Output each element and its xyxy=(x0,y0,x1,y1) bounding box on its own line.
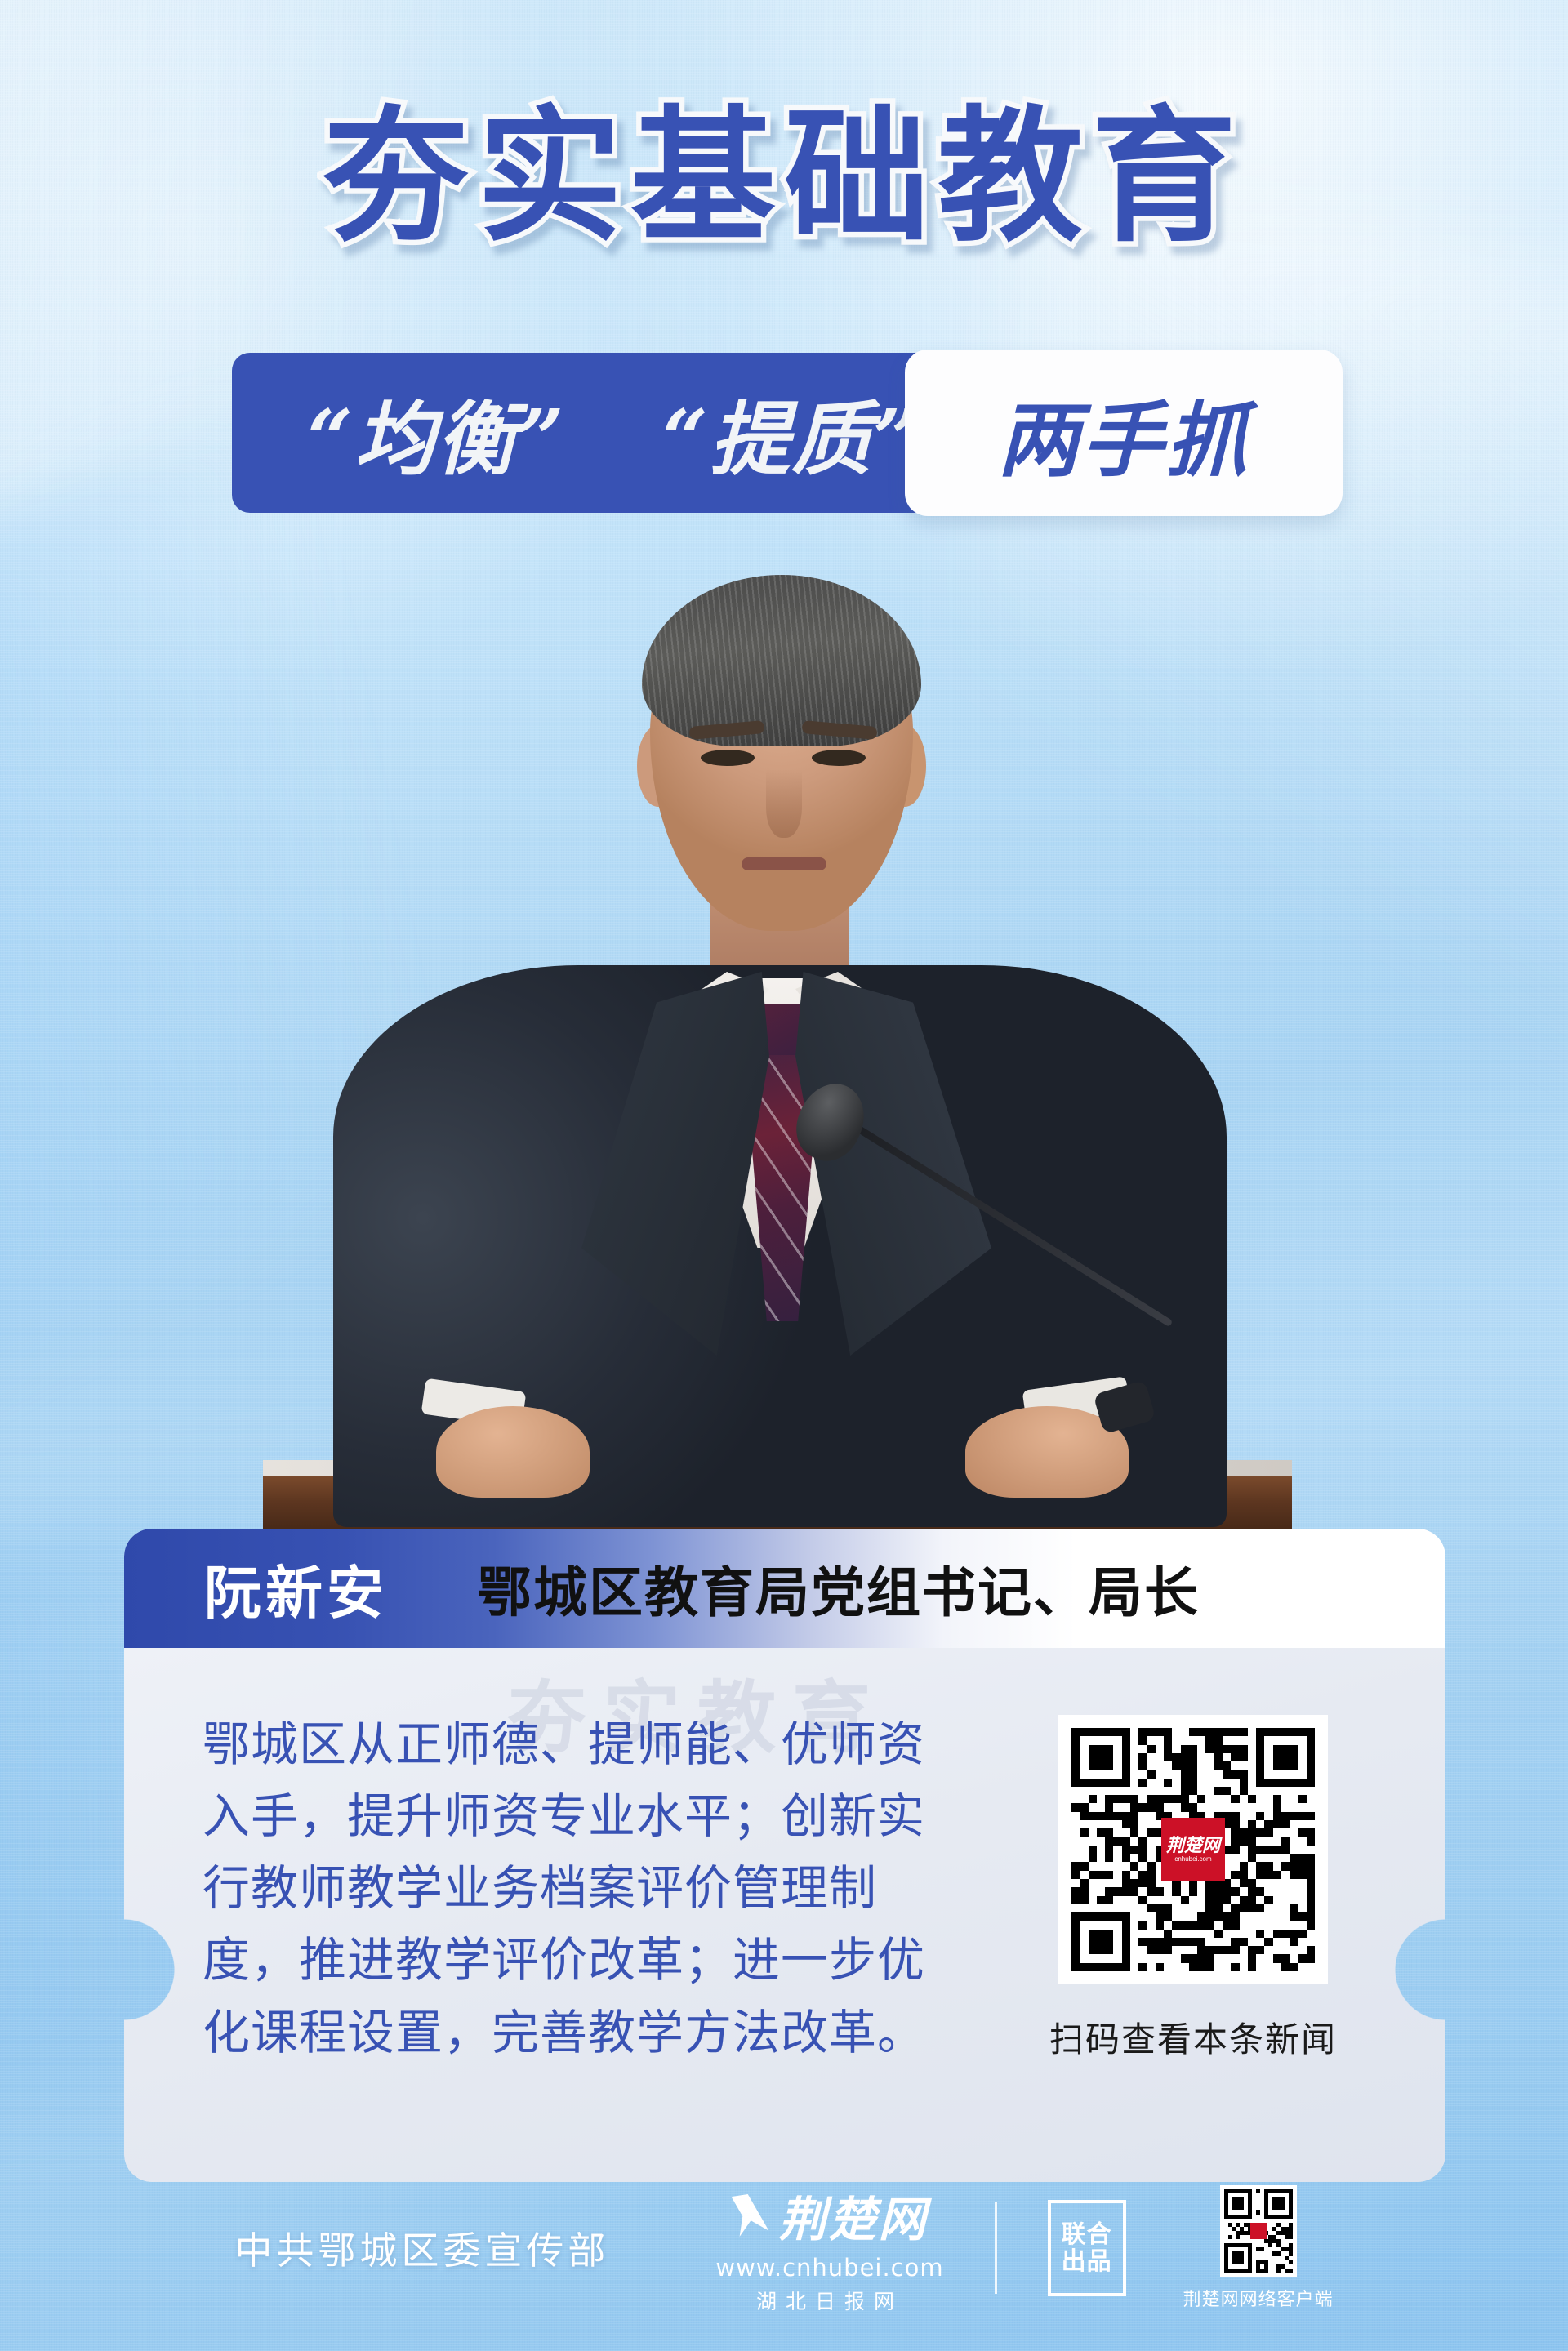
footer-app-block: 荆楚网网络客户端 xyxy=(1183,2185,1334,2311)
speaker-photo xyxy=(312,563,1243,1527)
poster-footer: 中共鄂城区委宣传部 荆楚网 www.cnhubei.com 湖北日报网 联合 出… xyxy=(0,2181,1568,2315)
card-surface: 阮新安 鄂城区教育局党组书记、局长 夯实教育 鄂城区从正师德、提师能、优师资入手… xyxy=(124,1529,1445,2182)
footer-department: 中共鄂城区委宣传部 xyxy=(234,2221,609,2275)
cnhubei-logo-icon: 荆楚网 cnhubei.com xyxy=(1161,1818,1225,1881)
speaker-name: 阮新安 xyxy=(204,1547,388,1630)
nose xyxy=(766,769,802,838)
qr-block: 荆楚网 cnhubei.com 扫码查看本条新闻 xyxy=(941,1648,1445,2182)
footer-brand-url: www.cnhubei.com xyxy=(715,2254,943,2282)
poster-headline: 夯实基础教育 xyxy=(0,105,1568,250)
cnhubei-swoosh-icon xyxy=(731,2194,768,2237)
poster-root: 夯实基础教育 “均衡” “提质” 两手抓 xyxy=(0,0,1568,2351)
hair xyxy=(642,575,921,746)
mouth xyxy=(742,857,826,870)
footer-brand-row: 荆楚网 xyxy=(731,2181,928,2250)
speaker-quote: 鄂城区从正师德、提师能、优师资入手，提升师资专业水平；创新实行教师教学业务档案评… xyxy=(124,1648,941,2182)
app-qr-logo-icon xyxy=(1250,2223,1267,2239)
news-qr-code[interactable]: 荆楚网 cnhubei.com xyxy=(1058,1715,1328,1984)
card-body: 夯实教育 鄂城区从正师德、提师能、优师资入手，提升师资专业水平；创新实行教师教学… xyxy=(124,1648,1445,2182)
speaker-info-card: 阮新安 鄂城区教育局党组书记、局长 夯实教育 鄂城区从正师德、提师能、优师资入手… xyxy=(124,1529,1445,2182)
subtitle-tag-quality: “提质” xyxy=(662,375,921,491)
stamp-line-2: 出品 xyxy=(1062,2249,1112,2275)
qr-logo-url: cnhubei.com xyxy=(1174,1856,1211,1863)
eye-right xyxy=(812,750,866,766)
qr-logo-name: 荆楚网 xyxy=(1166,1837,1220,1855)
footer-brand-subtitle: 湖北日报网 xyxy=(756,2286,903,2315)
qr-caption: 扫码查看本条新闻 xyxy=(1049,2012,1337,2062)
subtitle-tag-twohands: 两手抓 xyxy=(998,374,1250,492)
eye-left xyxy=(701,750,755,766)
subtitle-white-badge: 两手抓 xyxy=(905,350,1343,516)
footer-divider xyxy=(995,2202,997,2294)
hand-left xyxy=(436,1406,590,1498)
footer-brand: 荆楚网 www.cnhubei.com 湖北日报网 xyxy=(715,2181,943,2315)
joint-production-stamp: 联合 出品 xyxy=(1048,2200,1126,2296)
stamp-line-1: 联合 xyxy=(1062,2222,1112,2248)
footer-app-label: 荆楚网网络客户端 xyxy=(1183,2285,1334,2311)
footer-brand-name: 荆楚网 xyxy=(778,2181,928,2250)
speaker-title: 鄂城区教育局党组书记、局长 xyxy=(478,1549,1200,1627)
card-header: 阮新安 鄂城区教育局党组书记、局长 xyxy=(124,1529,1445,1648)
subtitle-bar: “均衡” “提质” 两手抓 xyxy=(232,353,1343,513)
subtitle-tag-balance: “均衡” xyxy=(307,375,566,491)
app-qr-code[interactable] xyxy=(1220,2185,1297,2277)
